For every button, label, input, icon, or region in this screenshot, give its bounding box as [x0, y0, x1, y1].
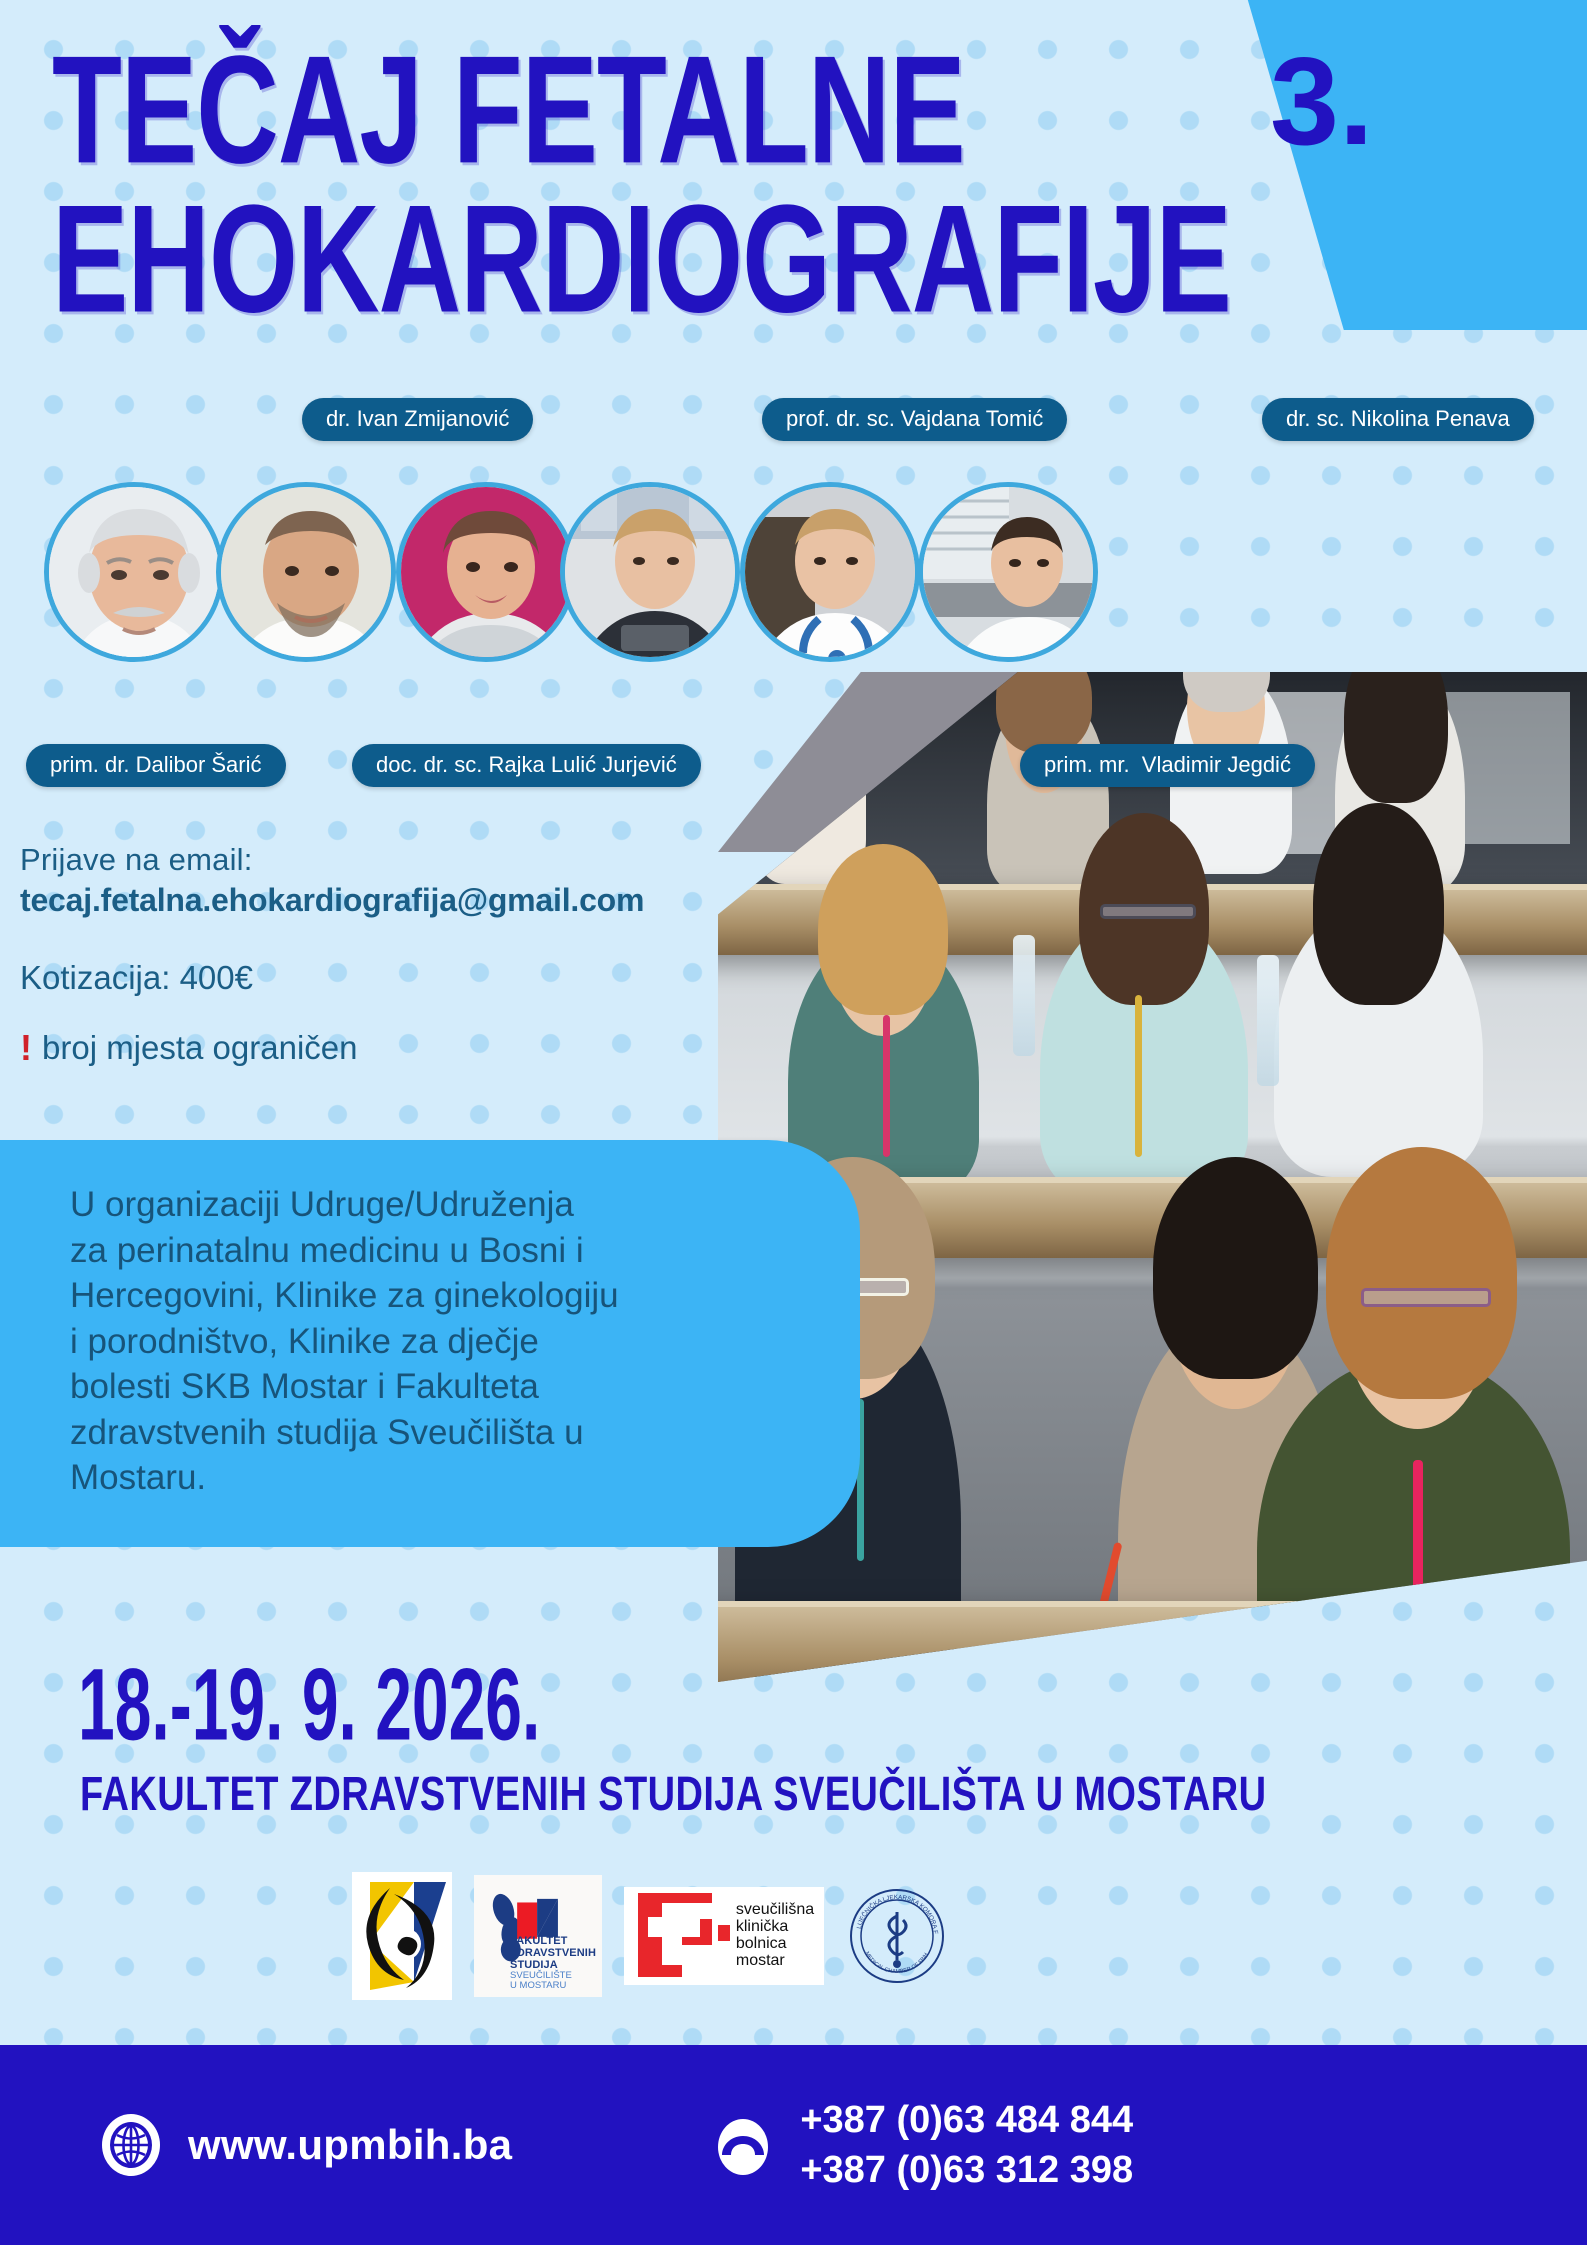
seats-limited-notice: ! broj mjesta ograničen: [20, 1029, 720, 1067]
avatar-vajdana-tomic: [560, 482, 740, 662]
speaker-badge-nikolina-penava: dr. sc. Nikolina Penava: [1262, 398, 1534, 441]
speaker-badge-vajdana-tomic: prof. dr. sc. Vajdana Tomić: [762, 398, 1067, 441]
registration-info: Prijave na email: tecaj.fetalna.ehokardi…: [20, 842, 720, 1067]
poster-root: TEČAJ FETALNE EHOKARDIOGRAFIJE 3. dr. Iv…: [0, 0, 1587, 2245]
avatar-rajka-lulic-jurjevic: [396, 482, 576, 662]
portrait-illustration: [49, 487, 224, 662]
skb-cross-icon: [634, 1887, 730, 1985]
website-group[interactable]: www.upmbih.ba: [100, 2114, 512, 2176]
fzs-line-5: U MOSTARU: [510, 1981, 596, 1991]
speaker-badge-dalibor-saric: prim. dr. Dalibor Šarić: [26, 744, 286, 787]
portrait-illustration: [221, 487, 396, 662]
speaker-badge-vladimir-jegdic: prim. mr. Vladimir Jegdić: [1020, 744, 1315, 787]
avatar-nikolina-penava: [918, 482, 1098, 662]
footer-bar: www.upmbih.ba +387 (0)63 484 844 +387 (0…: [0, 2045, 1587, 2245]
edition-ordinal: 3.: [1270, 40, 1373, 164]
event-venue: FAKULTET ZDRAVSTVENIH STUDIJA SVEUČILIŠT…: [80, 1768, 1266, 1823]
portrait-illustration: [745, 487, 920, 662]
speaker-badge-rajka-lulic-jurjevic: doc. dr. sc. Rajka Lulić Jurjević: [352, 744, 701, 787]
page-title: TEČAJ FETALNE EHOKARDIOGRAFIJE: [52, 36, 1231, 333]
skb-logo-text: sveučilišna klinička bolnica mostar: [730, 1902, 814, 1970]
sponsor-logo-strip: FAKULTET ZDRAVSTVENIH STUDIJA SVEUČILIŠT…: [352, 1872, 948, 2000]
skb-line-4: mostar: [736, 1953, 814, 1970]
fzs-line-2: ZDRAVSTVENIH: [510, 1948, 596, 1960]
avatar-ivan-zmijanovic: [216, 482, 396, 662]
skb-line-1: sveučilišna: [736, 1902, 814, 1919]
avatar-dalibor-saric: [44, 482, 224, 662]
registration-label: Prijave na email:: [20, 842, 720, 878]
portrait-illustration: [565, 487, 740, 662]
logo-fakultet-zdravstvenih-studija: FAKULTET ZDRAVSTVENIH STUDIJA SVEUČILIŠT…: [474, 1875, 602, 1997]
title-line-2: EHOKARDIOGRAFIJE: [52, 172, 1231, 344]
phone-group[interactable]: +387 (0)63 484 844 +387 (0)63 312 398: [712, 2095, 1133, 2195]
seats-limited-text: broj mjesta ograničen: [42, 1029, 358, 1067]
upmbih-logo-icon: [352, 1872, 452, 2000]
portrait-illustration: [401, 487, 576, 662]
registration-email[interactable]: tecaj.fetalna.ehokardiografija@gmail.com: [20, 882, 720, 919]
skb-line-3: bolnica: [736, 1936, 814, 1953]
audience-photo: [718, 672, 1587, 1682]
title-line-1: TEČAJ FETALNE: [52, 23, 965, 195]
skb-line-2: klinička: [736, 1919, 814, 1936]
website-url[interactable]: www.upmbih.ba: [188, 2121, 512, 2169]
lecture-hall-scene: [718, 672, 1587, 1682]
registration-fee: Kotizacija: 400€: [20, 959, 720, 997]
phone-icon: [712, 2114, 774, 2176]
logo-medical-chamber: LIJEČNIČKA LJEKARSKA KOMORA FBiH MEDICAL…: [846, 1886, 948, 1986]
phone-number-1[interactable]: +387 (0)63 484 844: [800, 2099, 1133, 2141]
phone-numbers[interactable]: +387 (0)63 484 844 +387 (0)63 312 398: [800, 2095, 1133, 2195]
phone-number-2[interactable]: +387 (0)63 312 398: [800, 2149, 1133, 2191]
logo-skb-mostar: sveučilišna klinička bolnica mostar: [624, 1887, 824, 1985]
organizer-box: U organizaciji Udruge/Udruženja za perin…: [0, 1140, 860, 1547]
medical-chamber-seal-icon: LIJEČNIČKA LJEKARSKA KOMORA FBiH MEDICAL…: [846, 1886, 948, 1986]
globe-icon: [100, 2114, 162, 2176]
avatar-vladimir-jegdic: [740, 482, 920, 662]
speaker-badge-ivan-zmijanovic: dr. Ivan Zmijanović: [302, 398, 533, 441]
alert-icon: !: [20, 1030, 32, 1066]
portrait-illustration: [923, 487, 1098, 662]
event-date: 18.-19. 9. 2026.: [78, 1645, 540, 1763]
fzs-logo-text: FAKULTET ZDRAVSTVENIH STUDIJA SVEUČILIŠT…: [510, 1936, 596, 1991]
logo-upmbih: [352, 1872, 452, 2000]
